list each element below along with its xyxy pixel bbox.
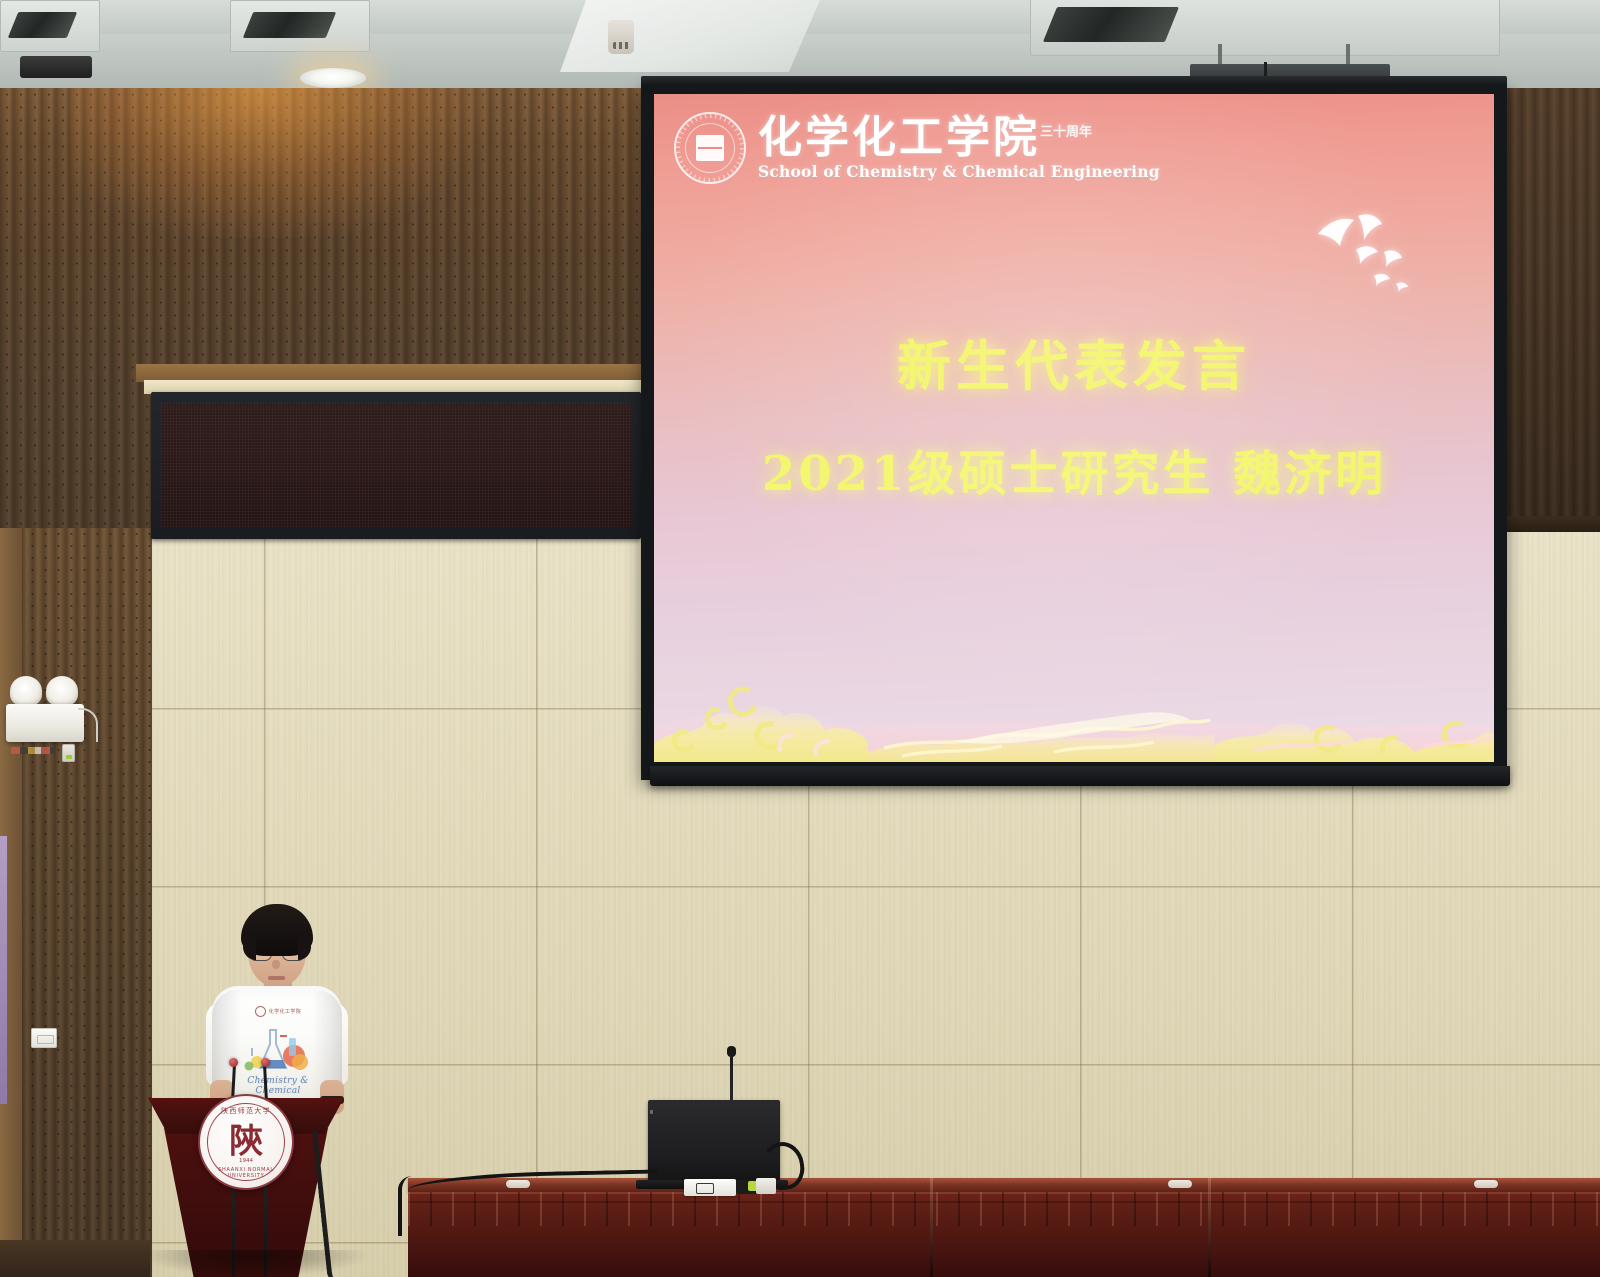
microphone-head-icon: [229, 1058, 238, 1067]
smoke-detector-icon: [608, 20, 634, 54]
table-seam: [930, 1178, 933, 1277]
wall-socket-icon[interactable]: [31, 1028, 57, 1048]
calligraphy-birds-icon: [1312, 194, 1422, 294]
tshirt-caption: Chemistry & Chemical: [226, 1076, 330, 1096]
emergency-lamp-icon: [46, 676, 78, 706]
podium-ground-shadow: [140, 1250, 370, 1277]
white-adapter-box[interactable]: [684, 1179, 736, 1196]
emblem-ring-text-cn: 陕西师范大学: [200, 1106, 292, 1116]
projection-screen-bottom-bar: [650, 766, 1510, 786]
tshirt-graphic-icon: [240, 1026, 318, 1080]
school-seal-icon: [674, 112, 746, 184]
slide-logo-text: 化学化工学院三十周年 School of Chemistry & Chemica…: [758, 115, 1160, 181]
seal-center-glyph: [696, 135, 724, 161]
slide-title: 新生代表发言: [654, 322, 1494, 401]
tshirt-chest-logo: 化学化工学院: [248, 1004, 308, 1018]
auspicious-cloud-decoration: [654, 632, 1494, 762]
tshirt-logo-text: 化学化工学院: [269, 1008, 301, 1015]
ceiling-speaker-icon: [20, 56, 92, 78]
ac-vent-icon: [230, 0, 370, 52]
upper-wall-right-column: [1496, 88, 1600, 518]
slide-subtitle: 2021级硕士研究生 魏济明: [654, 434, 1494, 504]
presentation-slide: 化学化工学院三十周年 School of Chemistry & Chemica…: [654, 94, 1494, 762]
left-column-perforation-texture: [0, 528, 152, 1277]
slide-logo-cn-main: 化学化工学院: [758, 112, 1040, 163]
emblem-center-char: 陝: [229, 1124, 263, 1158]
slide-header-logo: 化学化工学院三十周年 School of Chemistry & Chemica…: [674, 112, 1160, 184]
student-speaker: 化学化工学院 Chemistry & Chemical: [196, 890, 356, 1110]
ac-vent-icon: [0, 0, 100, 52]
lecture-hall-scene: 化学化工学院三十周年 School of Chemistry & Chemica…: [0, 0, 1600, 1277]
right-wall-trim: [1496, 516, 1600, 532]
emergency-lamp-icon: [10, 676, 42, 706]
light-soffit: [560, 0, 820, 72]
ceiling-downlight-icon: [300, 68, 366, 88]
table-cable-grommet: [1168, 1180, 1192, 1188]
emblem-ring-text-en: SHAANXI NORMAL UNIVERSITY: [200, 1167, 292, 1179]
emergency-light-test-button[interactable]: [62, 744, 75, 762]
led-panel-screen: [161, 403, 631, 528]
emergency-light-label: [11, 747, 55, 754]
speaker-mouth: [268, 976, 285, 980]
tshirt-seal-icon: [255, 1006, 266, 1017]
emergency-light: [6, 672, 98, 744]
table-cable-drop: [398, 1176, 438, 1236]
table-seam: [1208, 1178, 1211, 1277]
slide-logo-en: School of Chemistry & Chemical Engineeri…: [758, 162, 1160, 181]
slide-logo-cn: 化学化工学院三十周年: [758, 115, 1160, 161]
floor-shadow-area: [0, 1240, 150, 1277]
slide-logo-cn-superscript: 三十周年: [1040, 125, 1092, 140]
speaker-nose: [272, 960, 280, 969]
emblem-year: 1944: [200, 1158, 292, 1164]
university-emblem-icon: 陕西师范大学 陝 1944 SHAANXI NORMAL UNIVERSITY: [198, 1094, 294, 1190]
table-cable-grommet: [1474, 1180, 1498, 1188]
table-fret-border: [408, 1192, 1600, 1226]
microphone-head-icon: [261, 1058, 270, 1067]
led-display-panel[interactable]: [151, 392, 641, 539]
left-wall-strip: [0, 836, 7, 1104]
emergency-light-cable: [78, 708, 98, 742]
speaker-hair: [241, 904, 313, 956]
laptop[interactable]: [648, 1100, 780, 1184]
emergency-light-body: [6, 704, 84, 742]
table-front-face: [408, 1226, 1600, 1277]
power-plug[interactable]: [756, 1178, 776, 1194]
greek-key-pattern: [408, 1192, 1600, 1226]
